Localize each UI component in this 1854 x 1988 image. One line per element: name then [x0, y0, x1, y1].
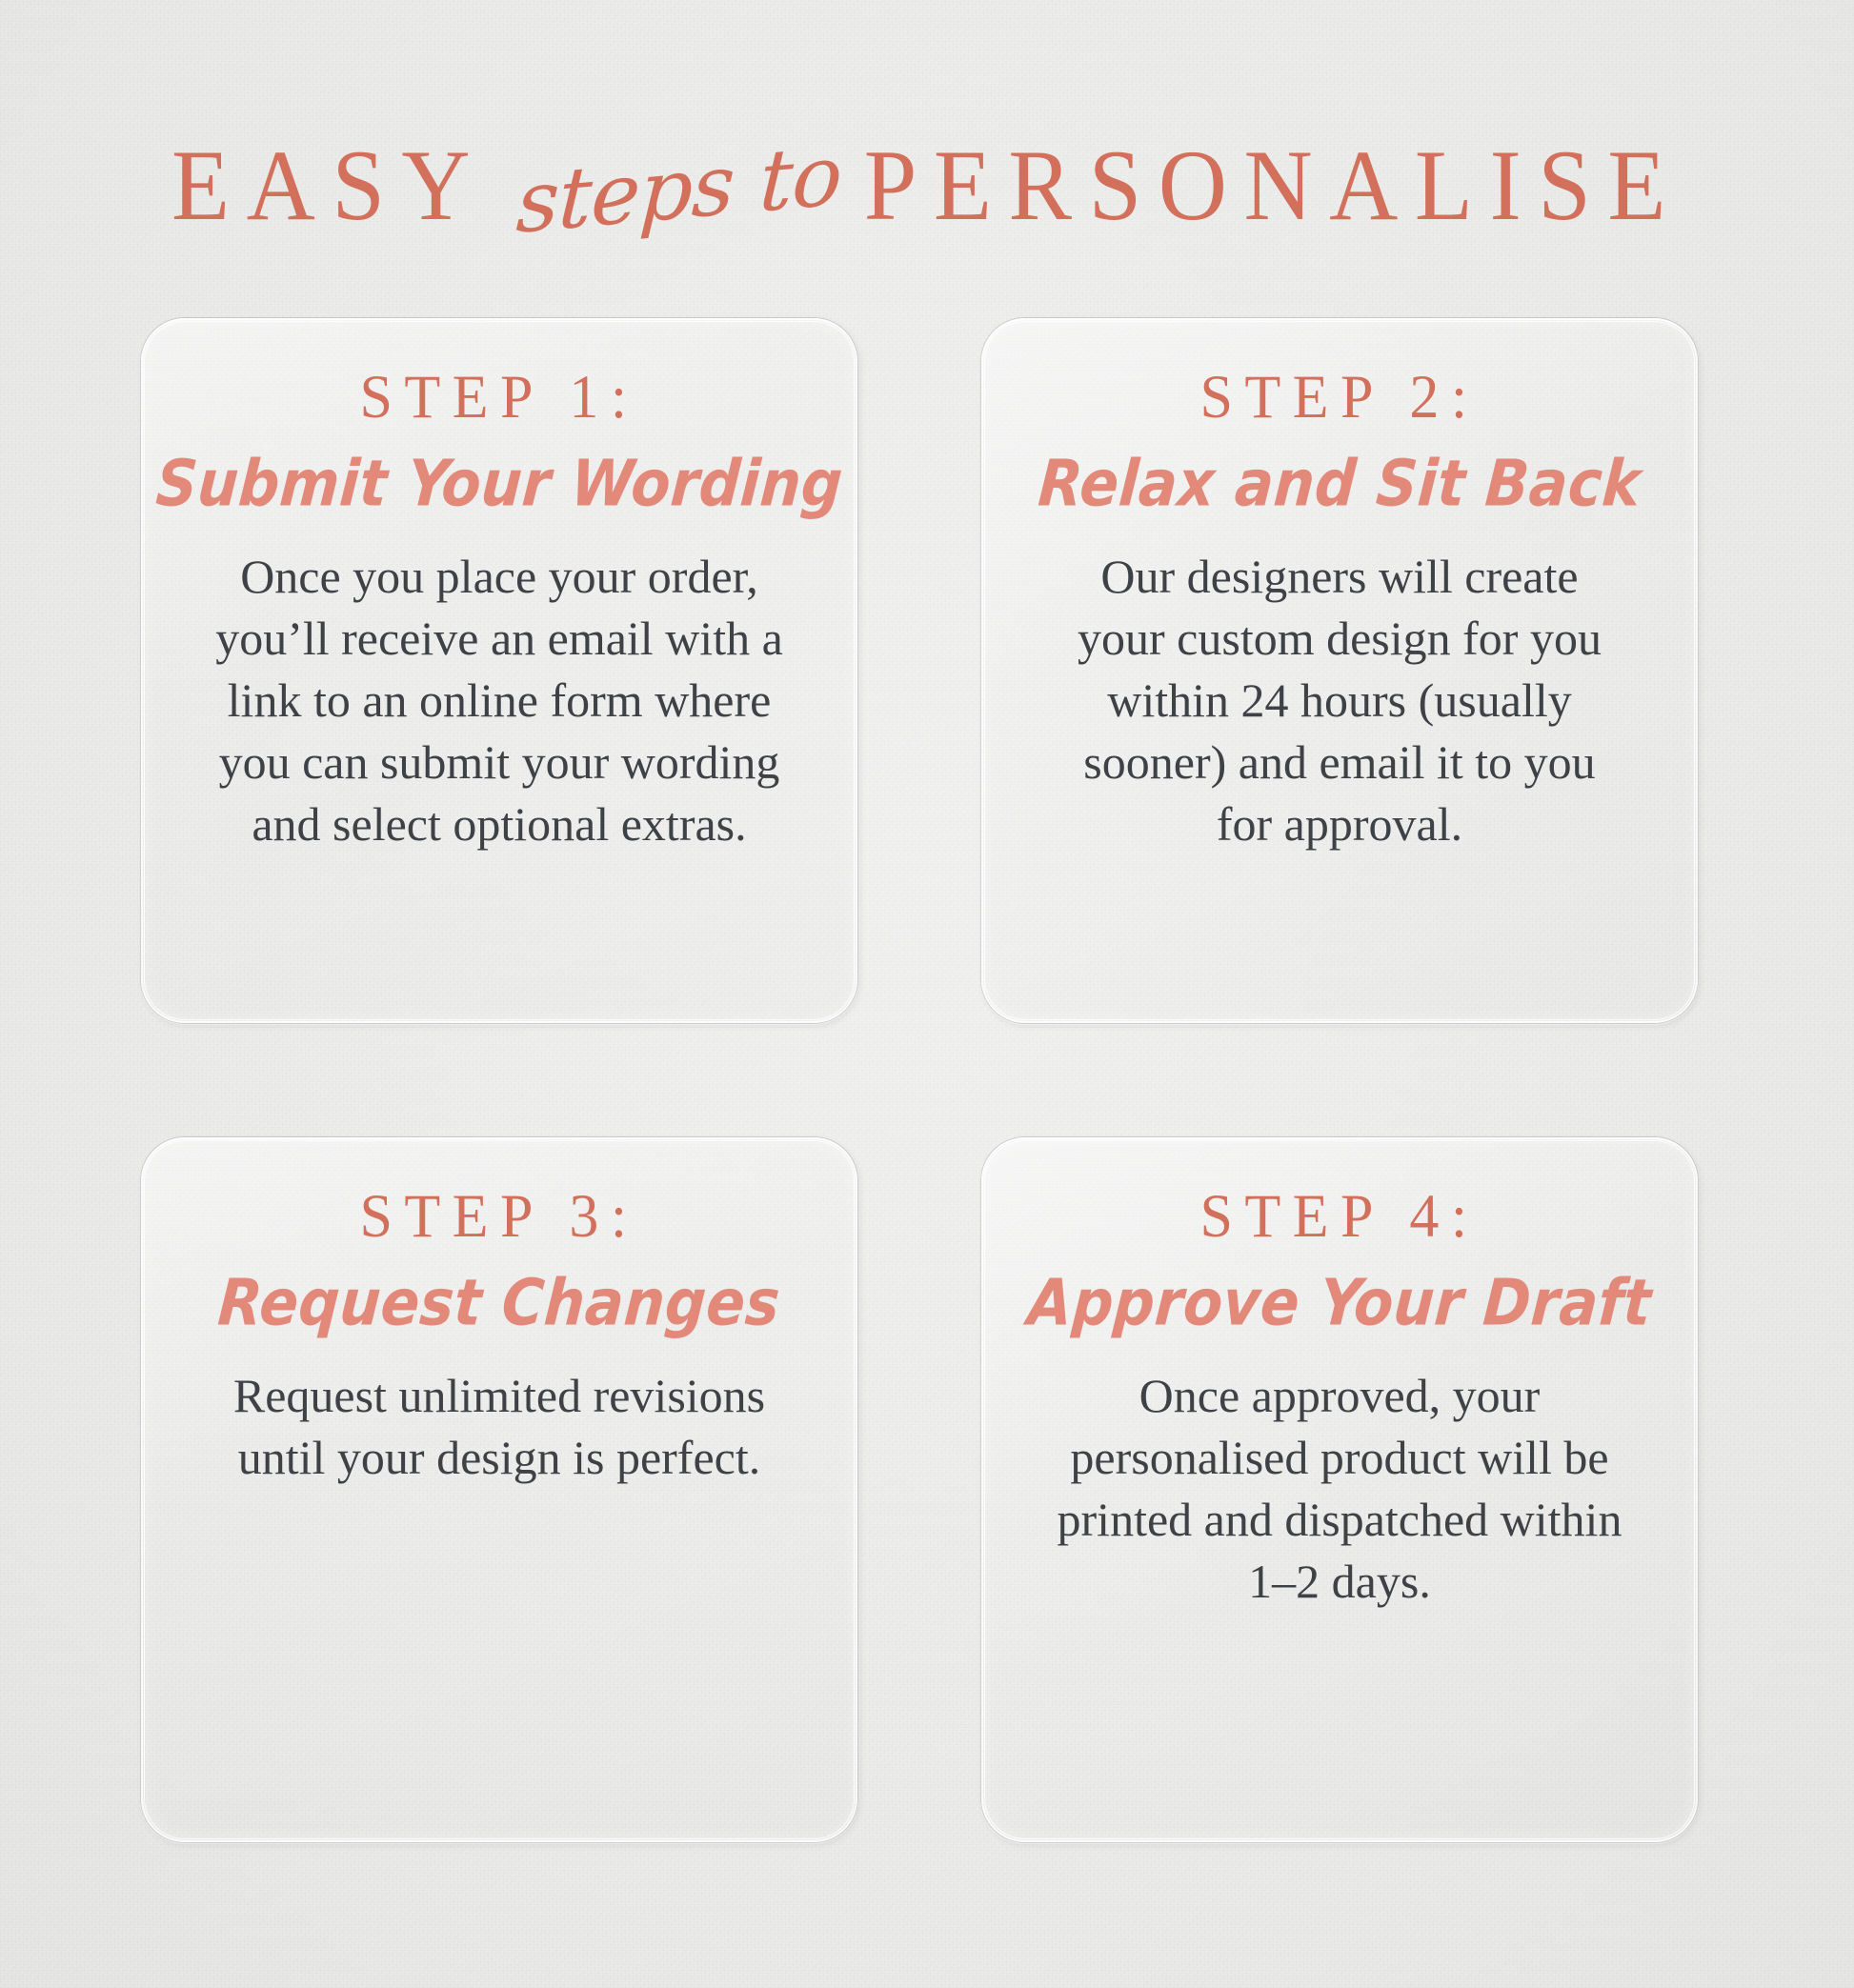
- headline-word-easy: EASY: [171, 135, 487, 236]
- step-card-2-step-label: STEP 2:: [1200, 367, 1480, 428]
- step-card-3: STEP 3: Request Changes Request unlimite…: [141, 1137, 857, 1842]
- step-card-2-title: Relax and Sit Back: [1037, 452, 1643, 517]
- step-card-1: STEP 1: Submit Your Wording Once you pla…: [141, 318, 857, 1023]
- step-card-3-description: Request unlimited revisions until your d…: [232, 1365, 766, 1489]
- page-title: EASY steps to PERSONALISE: [0, 133, 1854, 238]
- step-card-1-step-label: STEP 1:: [360, 367, 639, 428]
- steps-grid: STEP 1: Submit Your Wording Once you pla…: [141, 318, 1713, 1842]
- headline-word-personalise: PERSONALISE: [864, 135, 1683, 236]
- step-card-1-title: Submit Your Wording: [153, 452, 844, 517]
- step-card-3-title: Request Changes: [216, 1271, 782, 1336]
- infographic-page: EASY steps to PERSONALISE STEP 1: Submit…: [0, 0, 1854, 1988]
- step-card-3-step-label: STEP 3:: [360, 1186, 639, 1247]
- step-card-4-title: Approve Your Draft: [1026, 1271, 1654, 1336]
- step-card-2-description: Our designers will create your custom de…: [1058, 546, 1621, 855]
- step-card-4: STEP 4: Approve Your Draft Once approved…: [981, 1137, 1698, 1842]
- step-card-2: STEP 2: Relax and Sit Back Our designers…: [981, 318, 1698, 1023]
- step-card-1-description: Once you place your order, you’ll receiv…: [213, 546, 785, 855]
- step-card-4-step-label: STEP 4:: [1200, 1186, 1480, 1247]
- headline-script-steps-to: steps to: [514, 133, 844, 246]
- step-card-4-description: Once approved, your personalised product…: [1044, 1365, 1635, 1613]
